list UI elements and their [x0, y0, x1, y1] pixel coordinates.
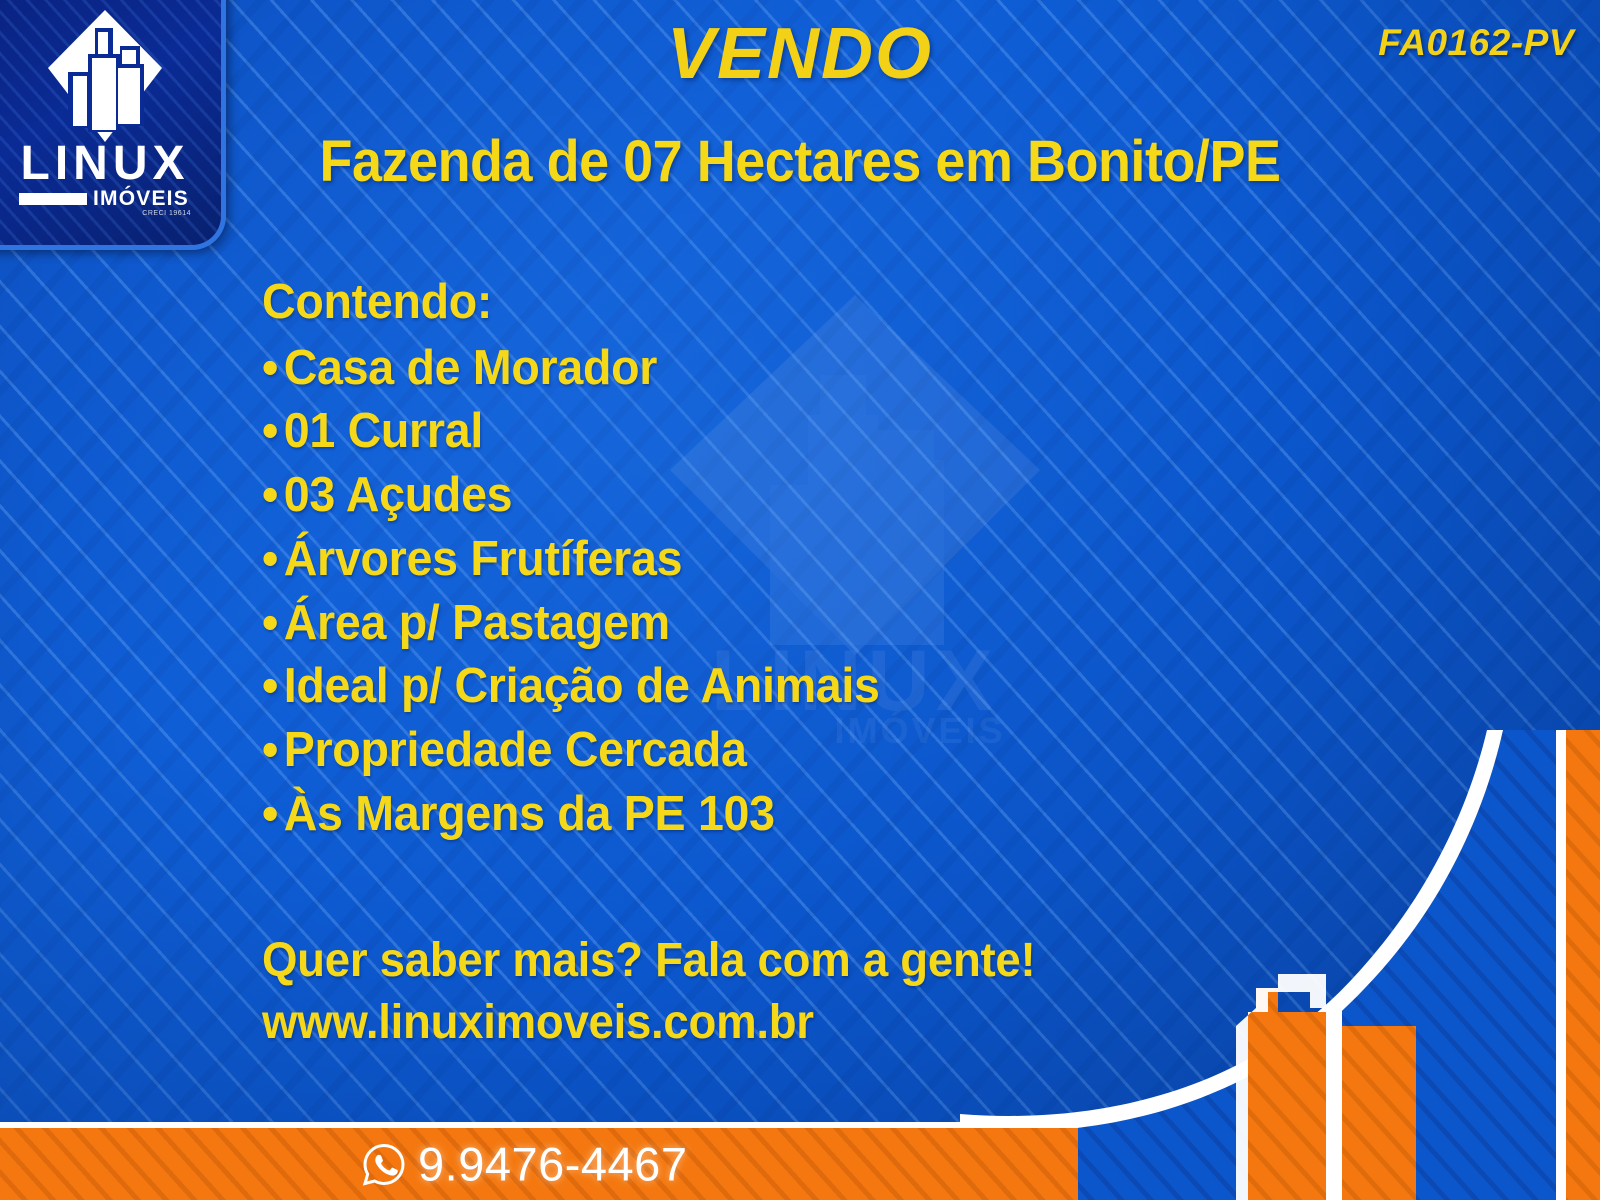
website-link[interactable]: www.linuximoveis.com.br: [262, 992, 1307, 1054]
list-item-label: Ideal p/ Criação de Animais: [284, 659, 880, 713]
cta-question: Quer saber mais? Fala com a gente!: [262, 930, 1307, 992]
list-item-label: Às Margens da PE 103: [284, 787, 775, 841]
features-title: Contendo:: [262, 272, 1326, 333]
list-item: •Área p/ Pastagem: [262, 592, 1326, 656]
page-title: Fazenda de 07 Hectares em Bonito/PE: [56, 131, 1544, 192]
reference-code: FA0162-PV: [1378, 22, 1574, 64]
list-item: •Às Margens da PE 103: [262, 783, 1326, 847]
list-item-label: 01 Curral: [284, 404, 483, 458]
phone-number: 9.9476-4467: [418, 1141, 687, 1188]
call-to-action-block: Quer saber mais? Fala com a gente! www.l…: [262, 930, 1362, 1055]
list-item: •Propriedade Cercada: [262, 719, 1326, 783]
list-item: •03 Açudes: [262, 464, 1326, 528]
advertisement-canvas: LINUX IMÓVEIS: [0, 0, 1600, 1200]
bullet-glyph: •: [262, 592, 278, 656]
ad-kicker: VENDO: [0, 18, 1600, 90]
features-block: Contendo: •Casa de Morador •01 Curral •0…: [262, 272, 1382, 846]
list-item: •Casa de Morador: [262, 337, 1326, 401]
bullet-glyph: •: [262, 783, 278, 847]
list-item: •Árvores Frutíferas: [262, 528, 1326, 592]
bullet-glyph: •: [262, 337, 278, 401]
bullet-glyph: •: [262, 719, 278, 783]
list-item: •01 Curral: [262, 400, 1326, 464]
bullet-glyph: •: [262, 528, 278, 592]
whatsapp-contact[interactable]: 9.9476-4467: [362, 1141, 687, 1188]
list-item-label: Propriedade Cercada: [284, 723, 747, 777]
brand-rule: [19, 193, 87, 205]
whatsapp-icon: [362, 1142, 406, 1186]
contact-bar: 9.9476-4467: [0, 1122, 1078, 1200]
features-list: •Casa de Morador •01 Curral •03 Açudes •…: [262, 337, 1382, 847]
list-item-label: 03 Açudes: [284, 468, 513, 522]
list-item-label: Árvores Frutíferas: [284, 532, 682, 586]
bullet-glyph: •: [262, 400, 278, 464]
list-item-label: Área p/ Pastagem: [284, 596, 670, 650]
list-item: •Ideal p/ Criação de Animais: [262, 655, 1326, 719]
bullet-glyph: •: [262, 655, 278, 719]
list-item-label: Casa de Morador: [284, 341, 657, 395]
brand-tagline: CRECI 19614: [19, 210, 191, 217]
bullet-glyph: •: [262, 464, 278, 528]
